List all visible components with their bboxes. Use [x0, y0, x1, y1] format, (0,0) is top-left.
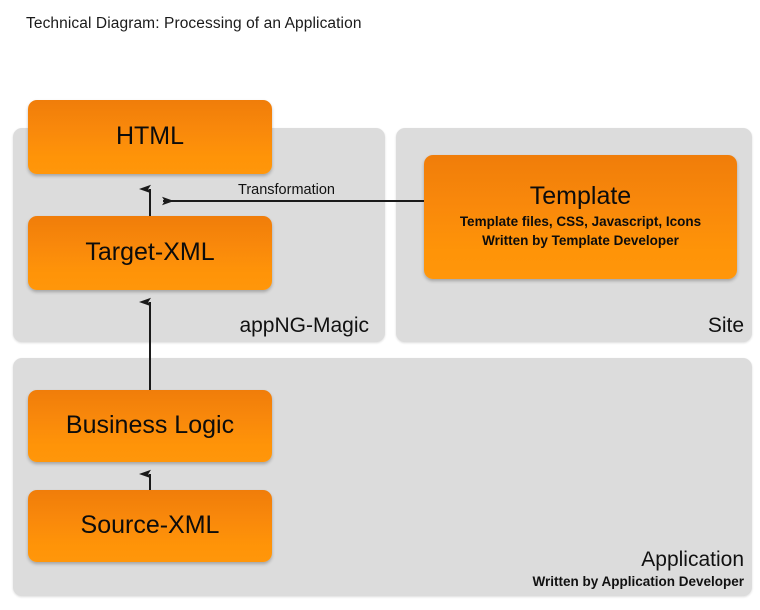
panel-label-site: Site: [708, 314, 744, 338]
arrow-label-transformation: Transformation: [238, 182, 335, 198]
box-business-logic: Business Logic: [28, 390, 272, 462]
box-template-title: Template: [530, 183, 631, 211]
panel-label-appng-magic: appNG-Magic: [239, 314, 369, 338]
box-source-xml-title: Source-XML: [81, 512, 220, 540]
panel-label-application-text: Application: [532, 548, 744, 572]
panel-label-application: Application Written by Application Devel…: [532, 548, 744, 590]
diagram-title: Technical Diagram: Processing of an Appl…: [26, 15, 362, 33]
panel-sublabel-application-text: Written by Application Developer: [532, 574, 744, 590]
box-target-xml: Target-XML: [28, 216, 272, 290]
technical-diagram: Technical Diagram: Processing of an Appl…: [0, 0, 760, 610]
box-template-line-2: Written by Template Developer: [482, 231, 679, 251]
box-html: HTML: [28, 100, 272, 174]
box-template-line-1: Template files, CSS, Javascript, Icons: [460, 212, 701, 232]
box-source-xml: Source-XML: [28, 490, 272, 562]
box-template: Template Template files, CSS, Javascript…: [424, 155, 737, 279]
box-target-xml-title: Target-XML: [85, 239, 214, 267]
panel-label-site-text: Site: [708, 314, 744, 338]
panel-label-appng-magic-text: appNG-Magic: [239, 314, 369, 338]
box-html-title: HTML: [116, 123, 184, 151]
box-business-logic-title: Business Logic: [66, 412, 234, 440]
